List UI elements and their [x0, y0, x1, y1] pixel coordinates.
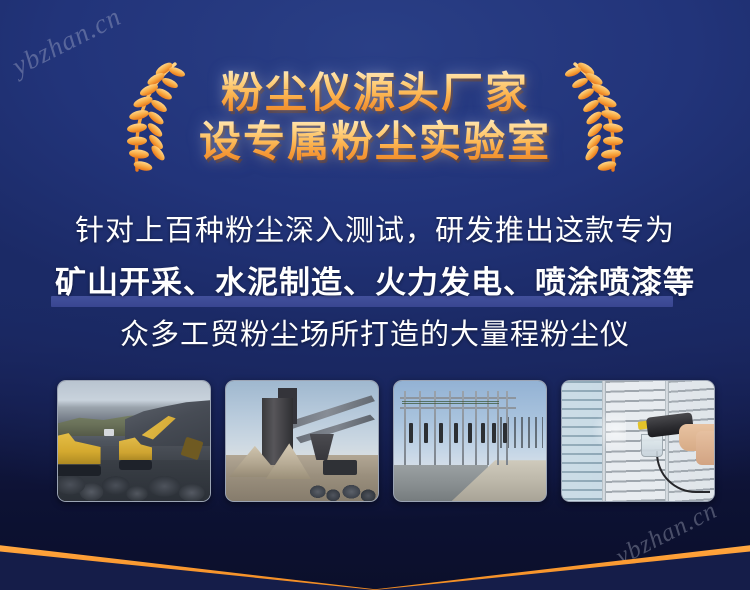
copy-line-2-suffix: 等	[663, 265, 695, 300]
plant-rocks	[308, 479, 378, 501]
copy-line-2-highlight-wrap: 矿山开采、水泥制造、火力发电、喷涂喷漆等	[55, 257, 695, 309]
header-block: 粉尘仪源头厂家 设专属粉尘实验室	[0, 58, 750, 176]
wheat-branch-icon-right	[561, 58, 635, 176]
operator-arm	[696, 431, 715, 465]
wheat-branch-icon-left	[115, 58, 189, 176]
copy-block: 针对上百种粉尘深入测试，研发推出这款专为 矿山开采、水泥制造、火力发电、喷涂喷漆…	[0, 205, 750, 361]
plant-truck	[323, 460, 356, 474]
mining-truck	[104, 429, 115, 436]
gallery-item-power-substation[interactable]	[393, 380, 547, 502]
gallery-item-open-pit-mining[interactable]	[57, 380, 211, 502]
copy-line-2-highlight: 矿山开采、水泥制造、火力发电、喷涂喷漆	[55, 265, 663, 300]
footer-chevron-fill	[0, 520, 750, 590]
gallery-item-spray-painting[interactable]	[561, 380, 715, 502]
spray-gun-cup	[641, 434, 663, 458]
excavator-left-track	[57, 465, 101, 476]
title-wrap: 粉尘仪源头厂家 设专属粉尘实验室	[199, 69, 551, 165]
substation-gantry	[400, 391, 516, 465]
promo-banner: ybzhan.cn ybzhan.cn	[0, 0, 750, 590]
copy-line-1: 针对上百种粉尘深入测试，研发推出这款专为	[0, 205, 750, 257]
copy-line-2: 矿山开采、水泥制造、火力发电、喷涂喷漆等	[0, 257, 750, 309]
gallery-strip	[57, 380, 705, 500]
title-line-1: 粉尘仪源头厂家	[221, 69, 529, 116]
title-line-2: 设专属粉尘实验室	[199, 118, 551, 165]
excavator-right-track	[119, 460, 152, 470]
copy-line-3: 众多工贸粉尘场所打造的大量程粉尘仪	[0, 309, 750, 361]
gallery-item-cement-aggregate-plant[interactable]	[225, 380, 379, 502]
paint-mist	[592, 410, 625, 451]
